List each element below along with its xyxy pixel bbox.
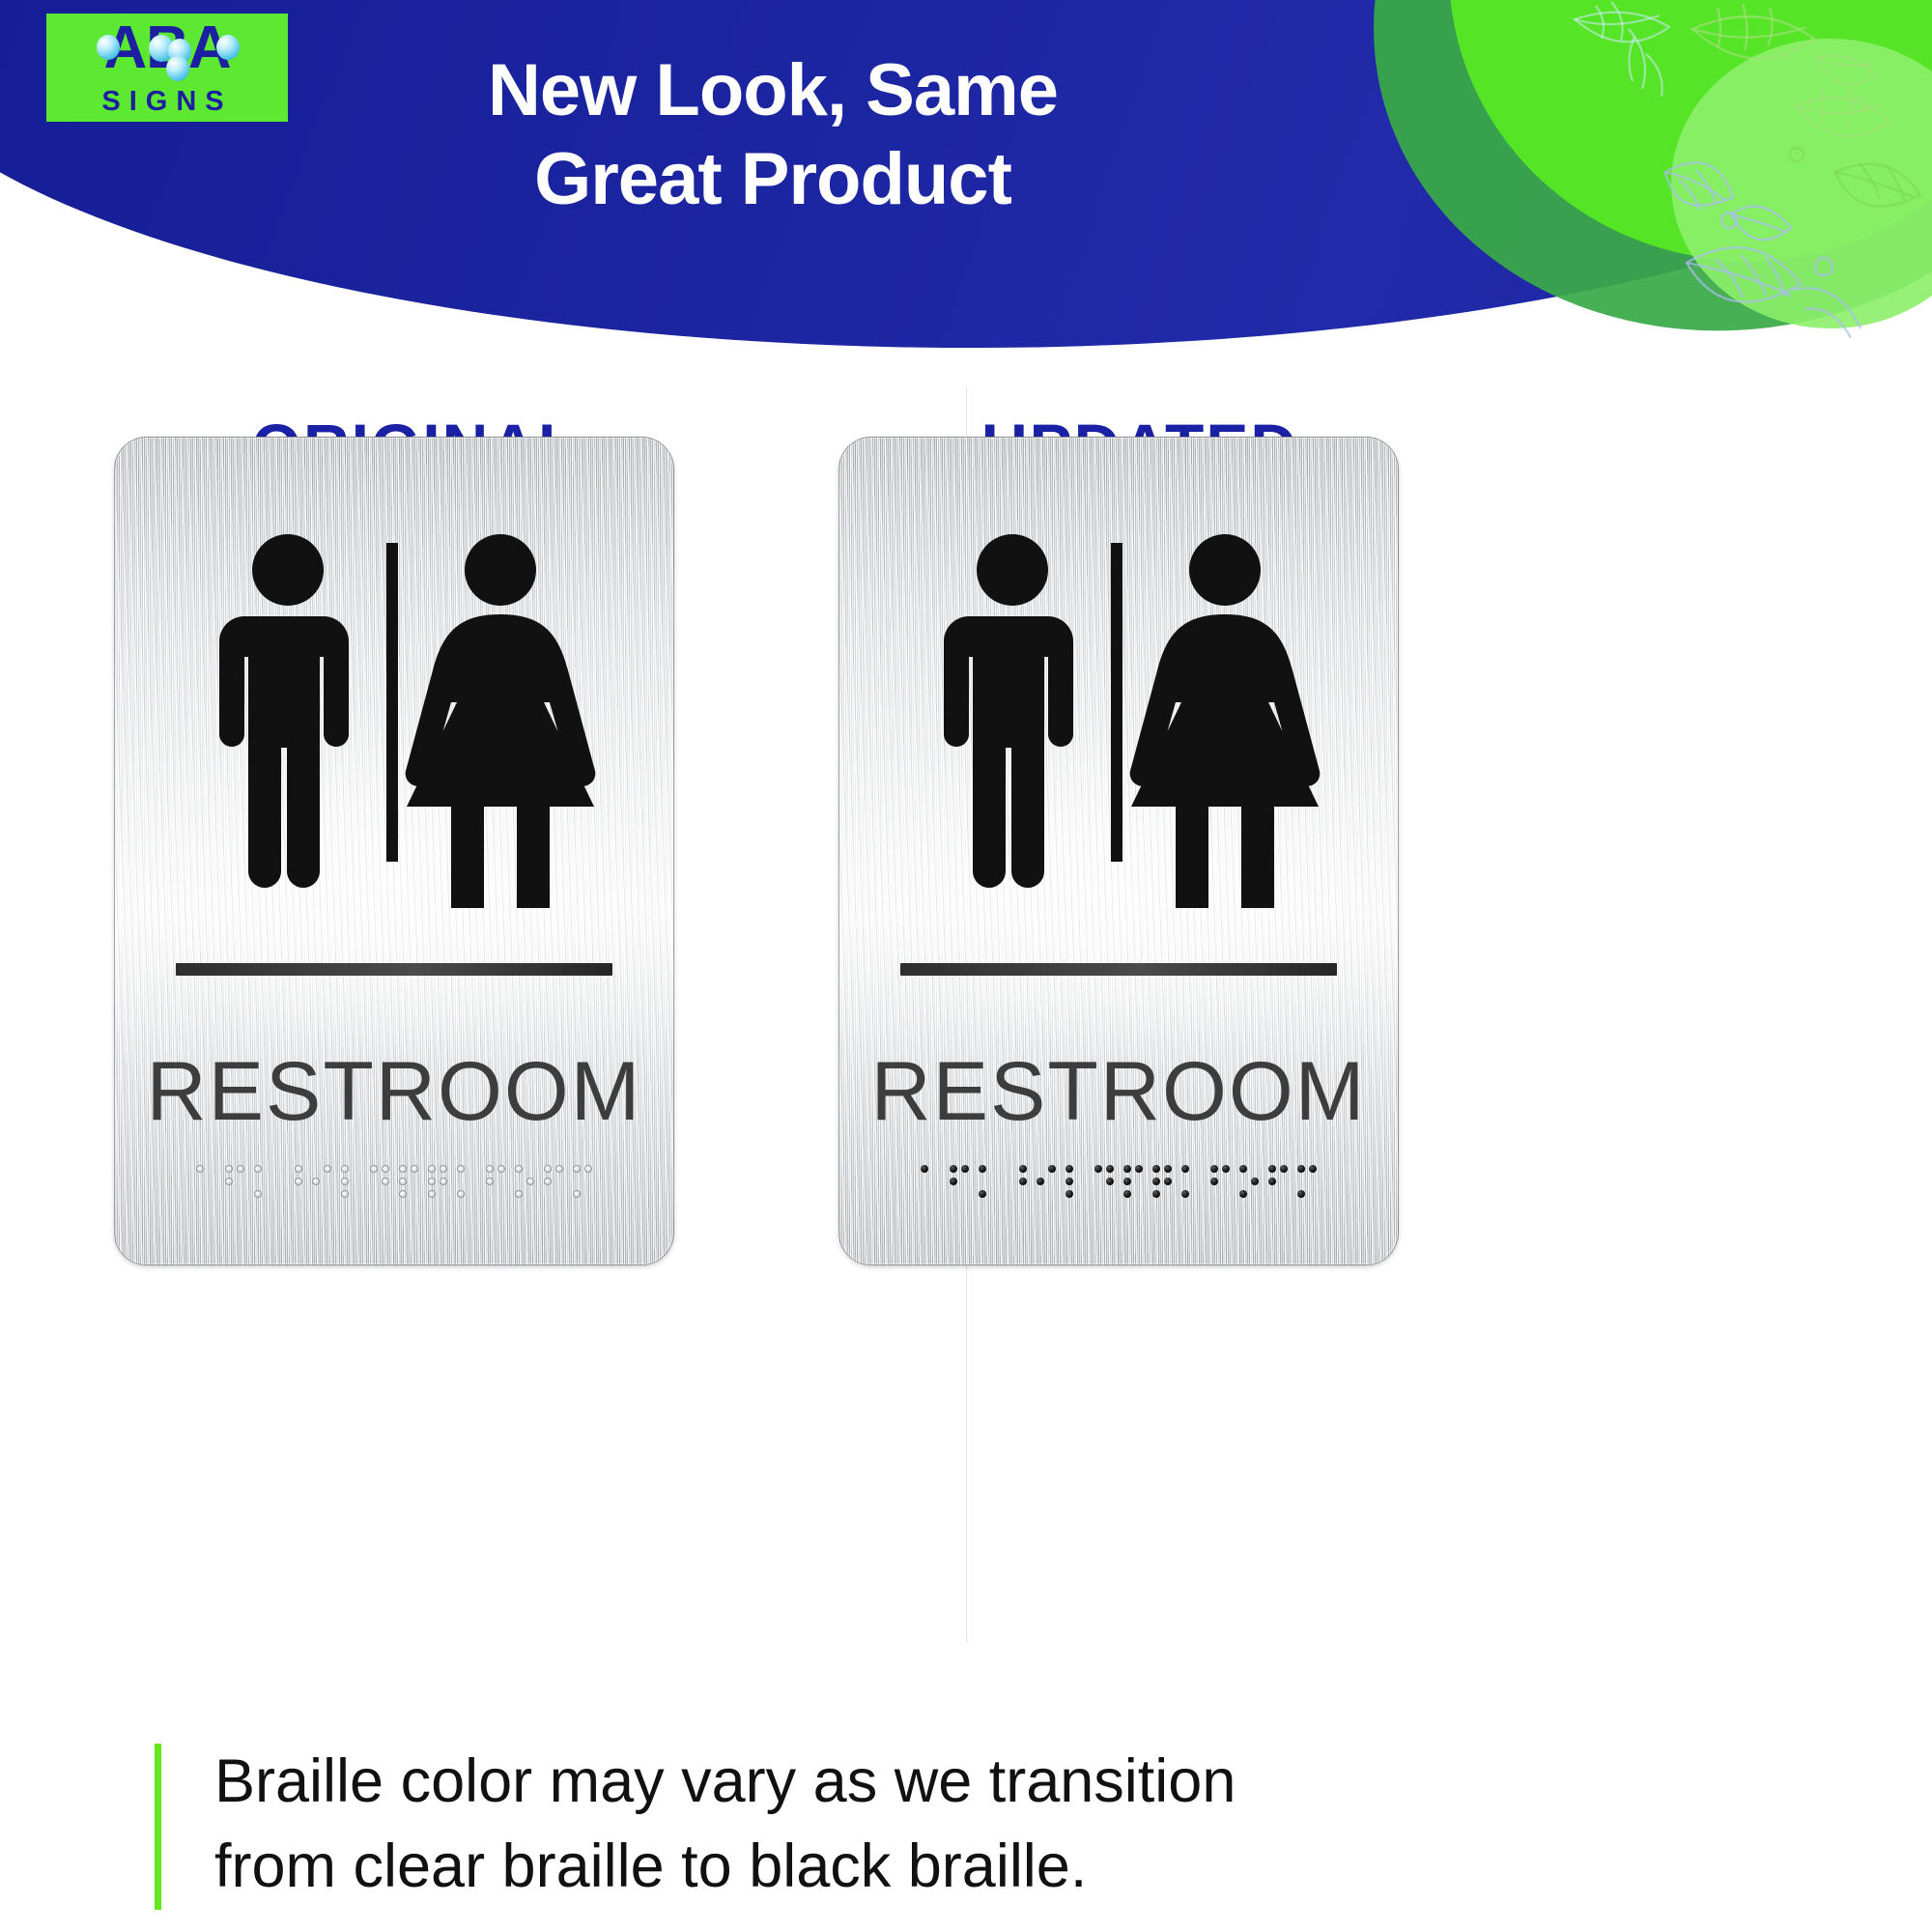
braille-cell — [283, 1163, 303, 1202]
sign-plate-original[interactable]: RESTROOM — [114, 437, 674, 1265]
braille-dot — [1297, 1165, 1305, 1173]
braille-dot — [382, 1178, 389, 1185]
sign-plate-updated[interactable]: RESTROOM — [838, 437, 1399, 1265]
braille-dot — [1048, 1165, 1056, 1173]
braille-dot — [1239, 1165, 1247, 1173]
braille-cell — [196, 1163, 216, 1202]
braille-dot — [428, 1178, 436, 1185]
braille-dot — [428, 1190, 436, 1198]
braille-dot — [515, 1190, 523, 1198]
braille-cell — [1152, 1163, 1173, 1202]
braille-dot — [1123, 1165, 1131, 1173]
braille-cell — [1239, 1163, 1260, 1202]
braille-cell — [921, 1163, 941, 1202]
braille-dot — [341, 1190, 349, 1198]
braille-cell — [1297, 1163, 1318, 1202]
logo-bubble-4 — [166, 56, 189, 81]
braille-dot — [1309, 1165, 1317, 1173]
braille-dot — [497, 1165, 505, 1173]
braille-dot — [1152, 1165, 1160, 1173]
braille-dot — [486, 1178, 494, 1185]
braille-dot — [341, 1165, 349, 1173]
caption-accent-bar — [155, 1744, 161, 1910]
braille-dot — [382, 1165, 389, 1173]
braille-dot — [324, 1165, 331, 1173]
braille-row-clear — [114, 1163, 674, 1206]
braille-dot — [295, 1178, 302, 1185]
braille-dot — [254, 1190, 262, 1198]
braille-dot — [1019, 1165, 1027, 1173]
braille-dot — [1106, 1165, 1114, 1173]
braille-cell — [1210, 1163, 1231, 1202]
braille-cell — [1268, 1163, 1289, 1202]
braille-dot — [312, 1178, 320, 1185]
braille-cell — [950, 1163, 970, 1202]
logo-bubble-5 — [216, 35, 240, 60]
braille-dot — [573, 1190, 581, 1198]
braille-dot — [399, 1178, 407, 1185]
braille-cell — [428, 1163, 448, 1202]
braille-dot — [544, 1178, 552, 1185]
braille-cell — [1123, 1163, 1144, 1202]
braille-dot — [457, 1165, 465, 1173]
braille-dot — [399, 1190, 407, 1198]
leaf-line-art-decoration — [1256, 0, 1932, 406]
header-banner: ABA SIGNS New Look, Same Great Product — [0, 0, 1932, 444]
braille-dot — [370, 1165, 378, 1173]
braille-dot — [1164, 1165, 1172, 1173]
braille-cell — [544, 1163, 564, 1202]
braille-dot — [1123, 1190, 1131, 1198]
braille-cell — [486, 1163, 506, 1202]
braille-dot — [544, 1165, 552, 1173]
sign-divider-bar — [176, 963, 612, 976]
braille-dot — [1152, 1190, 1160, 1198]
braille-dot — [295, 1165, 302, 1173]
braille-dot — [440, 1165, 447, 1173]
braille-cell — [1065, 1163, 1086, 1202]
braille-dot — [1065, 1190, 1073, 1198]
braille-dot — [341, 1178, 349, 1185]
logo-text-signs: SIGNS — [46, 83, 288, 120]
braille-dot — [1065, 1165, 1073, 1173]
braille-dot — [1222, 1165, 1230, 1173]
header-title-line-2: Great Product — [319, 135, 1227, 224]
braille-dot — [1164, 1178, 1172, 1185]
sign-text-restroom: RESTROOM — [114, 1045, 674, 1138]
braille-cell — [457, 1163, 477, 1202]
braille-cell — [979, 1163, 999, 1202]
braille-cell — [573, 1163, 593, 1202]
braille-dot — [1135, 1165, 1143, 1173]
sign-text-restroom: RESTROOM — [838, 1045, 1399, 1138]
restroom-pictogram-icon — [838, 522, 1399, 908]
braille-dot — [1251, 1178, 1259, 1185]
restroom-pictogram-icon — [114, 522, 674, 908]
braille-cell — [1094, 1163, 1115, 1202]
braille-dot — [979, 1165, 986, 1173]
braille-dot — [950, 1165, 957, 1173]
braille-dot — [1123, 1178, 1131, 1185]
braille-dot — [1181, 1165, 1189, 1173]
braille-dot — [225, 1178, 233, 1185]
braille-dot — [1210, 1178, 1218, 1185]
braille-dot — [1210, 1165, 1218, 1173]
braille-cell — [1181, 1163, 1202, 1202]
caption-text: Braille color may vary as we transition … — [214, 1739, 1847, 1909]
braille-cell — [341, 1163, 361, 1202]
braille-dot — [1181, 1190, 1189, 1198]
braille-cell — [515, 1163, 535, 1202]
braille-dot — [555, 1165, 563, 1173]
braille-dot — [1065, 1178, 1073, 1185]
braille-dot — [961, 1165, 969, 1173]
braille-dot — [1268, 1178, 1276, 1185]
braille-dot — [440, 1178, 447, 1185]
braille-dot — [979, 1190, 986, 1198]
braille-dot — [196, 1165, 204, 1173]
braille-dot — [921, 1165, 928, 1173]
braille-dot — [237, 1165, 244, 1173]
header-title: New Look, Same Great Product — [319, 46, 1227, 224]
braille-cell — [225, 1163, 245, 1202]
braille-dot — [411, 1165, 418, 1173]
braille-dot — [950, 1178, 957, 1185]
braille-cell — [399, 1163, 419, 1202]
aba-signs-logo[interactable]: ABA SIGNS — [46, 14, 288, 122]
braille-dot — [428, 1165, 436, 1173]
braille-cell — [1037, 1163, 1057, 1202]
braille-dot — [1297, 1190, 1305, 1198]
braille-dot — [486, 1165, 494, 1173]
braille-dot — [573, 1165, 581, 1173]
braille-dot — [399, 1165, 407, 1173]
braille-dot — [1280, 1165, 1288, 1173]
sign-divider-bar — [900, 963, 1337, 976]
braille-dot — [1239, 1190, 1247, 1198]
braille-dot — [225, 1165, 233, 1173]
caption-line-1: Braille color may vary as we transition — [214, 1739, 1847, 1824]
braille-cell — [1008, 1163, 1028, 1202]
braille-dot — [457, 1190, 465, 1198]
caption-line-2: from clear braille to black braille. — [214, 1824, 1847, 1909]
braille-dot — [254, 1165, 262, 1173]
braille-dot — [1019, 1178, 1027, 1185]
braille-dot — [1037, 1178, 1044, 1185]
braille-dot — [526, 1178, 534, 1185]
braille-dot — [515, 1165, 523, 1173]
braille-dot — [584, 1165, 592, 1173]
braille-cell — [312, 1163, 332, 1202]
braille-cell — [370, 1163, 390, 1202]
braille-dot — [1106, 1178, 1114, 1185]
braille-cell — [254, 1163, 274, 1202]
braille-row-black — [838, 1163, 1399, 1206]
braille-dot — [1152, 1178, 1160, 1185]
header-title-line-1: New Look, Same — [319, 46, 1227, 135]
logo-bubble-1 — [97, 35, 120, 60]
braille-dot — [1268, 1165, 1276, 1173]
braille-dot — [1094, 1165, 1102, 1173]
